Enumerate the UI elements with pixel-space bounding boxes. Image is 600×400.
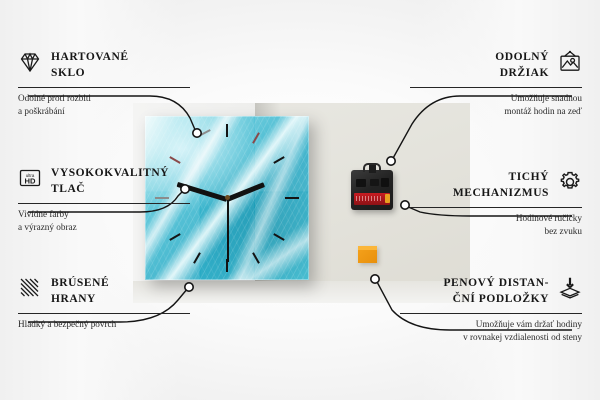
feature-hq-print: ultra HD VYSOKOKVALITNÝ TLAČ Vivídne far… xyxy=(18,166,190,234)
ultra-hd-icon: ultra HD xyxy=(18,166,42,190)
mechanism-detail-1 xyxy=(356,179,366,187)
gear-icon xyxy=(558,170,582,194)
feature-title-line2: SKLO xyxy=(51,66,129,82)
battery-plus-terminal xyxy=(385,194,390,203)
feature-foam-spacers: PENOVÝ DISTAN- ČNÍ PODLOŽKY Umožňuje vám… xyxy=(400,276,582,344)
mechanism-detail-2 xyxy=(370,179,379,186)
feature-desc-line1: Umožňuje snadnou xyxy=(410,92,582,105)
feature-tempered-glass: HARTOVANÉ SKLO Odolné proti rozbiti a po… xyxy=(18,50,190,118)
svg-text:HD: HD xyxy=(25,177,36,186)
clock-mechanism xyxy=(351,170,393,210)
mechanism-shaft xyxy=(369,165,376,173)
press-pad-icon xyxy=(558,276,582,300)
clock-tick-12 xyxy=(226,124,228,137)
feature-divider xyxy=(410,207,582,208)
clock-center-hub xyxy=(225,195,230,200)
feature-title-line2: HRANY xyxy=(51,292,109,308)
feature-description: Hodinové ručičky bez zvuku xyxy=(410,212,582,238)
feature-title-line2: TLAČ xyxy=(51,182,169,198)
feature-title: BRÚSENÉ HRANY xyxy=(51,276,109,308)
diamond-icon xyxy=(18,50,42,74)
clock-tick-3 xyxy=(285,197,299,199)
feature-desc-line2: a poškrábání xyxy=(18,105,190,118)
picture-hanger-icon xyxy=(558,50,582,74)
hatched-edge-icon xyxy=(18,276,42,300)
feature-title-line1: BRÚSENÉ xyxy=(51,276,109,292)
feature-divider xyxy=(18,87,190,88)
feature-title-line1: TICHÝ xyxy=(453,170,549,186)
feature-description: Umožňuje snadnou montáž hodin na zeď xyxy=(410,92,582,118)
feature-divider xyxy=(18,313,190,314)
feature-title: TICHÝ MECHANIZMUS xyxy=(453,170,549,202)
infographic-stage: HARTOVANÉ SKLO Odolné proti rozbiti a po… xyxy=(0,0,600,400)
feature-desc-line1: Hladký a bezpečný povrch xyxy=(18,318,190,331)
foam-spacer-pad-top xyxy=(358,246,377,250)
feature-description: Vivídne farby a výrazný obraz xyxy=(18,208,190,234)
feature-divider xyxy=(18,203,190,204)
feature-title: HARTOVANÉ SKLO xyxy=(51,50,129,82)
feature-title: VYSOKOKVALITNÝ TLAČ xyxy=(51,166,169,198)
feature-title-line1: HARTOVANÉ xyxy=(51,50,129,66)
feature-durable-holder: ODOLNÝ DRŽIAK Umožňuje snadnou montáž ho… xyxy=(410,50,582,118)
feature-description: Hladký a bezpečný povrch xyxy=(18,318,190,331)
feature-desc-line1: Odolné proti rozbiti xyxy=(18,92,190,105)
feature-desc-line2: bez zvuku xyxy=(410,225,582,238)
feature-title-line1: ODOLNÝ xyxy=(495,50,549,66)
feature-description: Umožňuje vám držať hodiny v rovnakej vzd… xyxy=(400,318,582,344)
clock-second-hand xyxy=(227,198,229,262)
feature-title: ODOLNÝ DRŽIAK xyxy=(495,50,549,82)
feature-desc-line1: Vivídne farby xyxy=(18,208,190,221)
feature-desc-line1: Umožňuje vám držať hodiny xyxy=(400,318,582,331)
feature-silent-mechanism: TICHÝ MECHANIZMUS Hodinové ručičky bez z… xyxy=(410,170,582,238)
feature-title-line2: MECHANIZMUS xyxy=(453,186,549,202)
mechanism-detail-3 xyxy=(381,178,389,187)
feature-ground-edges: BRÚSENÉ HRANY Hladký a bezpečný povrch xyxy=(18,276,190,331)
feature-desc-line2: v rovnakej vzdialenosti od steny xyxy=(400,331,582,344)
feature-divider xyxy=(400,313,582,314)
feature-title-line2: ČNÍ PODLOŽKY xyxy=(443,292,549,308)
feature-title-line1: VYSOKOKVALITNÝ xyxy=(51,166,169,182)
feature-desc-line2: a výrazný obraz xyxy=(18,221,190,234)
feature-desc-line2: montáž hodin na zeď xyxy=(410,105,582,118)
feature-title-line1: PENOVÝ DISTAN- xyxy=(443,276,549,292)
feature-desc-line1: Hodinové ručičky xyxy=(410,212,582,225)
battery-label xyxy=(356,196,382,201)
feature-title-line2: DRŽIAK xyxy=(495,66,549,82)
feature-description: Odolné proti rozbiti a poškrábání xyxy=(18,92,190,118)
feature-title: PENOVÝ DISTAN- ČNÍ PODLOŽKY xyxy=(443,276,549,308)
feature-divider xyxy=(410,87,582,88)
